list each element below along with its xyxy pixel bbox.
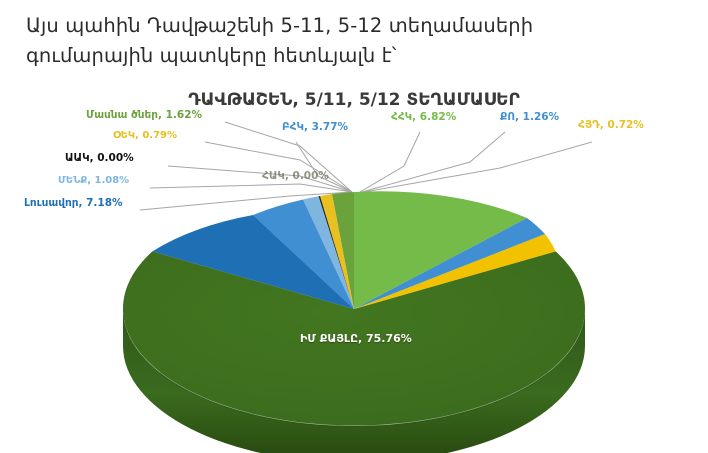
label-aak: ԱԱԿ, 0.00% [65, 153, 134, 164]
label-bhk: ԲՀԿ, 3.77% [282, 122, 348, 133]
label-im-qayl: ԻՄ ՔԱՅԼԸ, 75.76% [300, 332, 412, 345]
label-oek: ՕԵԿ, 0.79% [113, 131, 177, 141]
label-hak-obscured: ՀԱԿ, 0.00% [262, 170, 329, 182]
label-hhk: ՀՀԿ, 6.82% [391, 112, 456, 123]
label-hyd: ՀՅԴ, 0.72% [578, 120, 644, 131]
heading-block: Այս պահին Դավթաշենի 5-11, 5-12 տեղամասեր… [0, 0, 708, 84]
pie-chart-svg [0, 84, 708, 453]
pie-chart: ԴԱՎԹԱՇԵՆ, 5/11, 5/12 ՏԵՂԱՄԱՍԵՐ [0, 84, 708, 453]
heading-line-2: գումարային պատկերը հետևյալն է՝ [26, 44, 397, 67]
label-menq: ՄԵՆՔ, 1.08% [58, 176, 129, 186]
label-qo: ՔՈ, 1.26% [500, 112, 559, 123]
label-masna: Մասնա ծներ, 1.62% [86, 110, 202, 121]
screenshot-root: Այս պահին Դավթաշենի 5-11, 5-12 տեղամասեր… [0, 0, 708, 453]
label-lusavor: Լուսավոր, 7.18% [24, 198, 123, 209]
heading-line-1: Այս պահին Դավթաշենի 5-11, 5-12 տեղամասեր… [26, 14, 533, 37]
